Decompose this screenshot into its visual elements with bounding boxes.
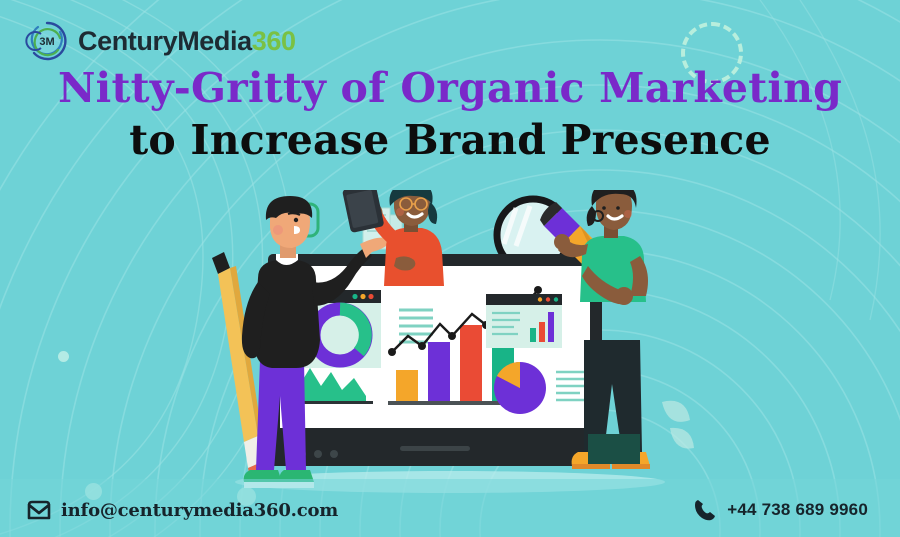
brand-logo[interactable]: 3M CenturyMedia360 [24, 18, 296, 64]
brand-name-part2: 360 [252, 26, 296, 56]
contact-email[interactable]: info@centurymedia360.com [26, 497, 338, 523]
leaf-decoration [662, 401, 694, 449]
brand-name: CenturyMedia360 [78, 28, 296, 55]
envelope-icon [26, 497, 52, 523]
bar-3 [460, 325, 482, 402]
contact-phone[interactable]: +44 738 689 9960 [692, 497, 868, 523]
phone-number: +44 738 689 9960 [727, 500, 868, 520]
logo-inner-label: 3M [39, 36, 54, 48]
decorative-dot [58, 351, 69, 362]
mini-bars-card [486, 294, 562, 348]
email-address: info@centurymedia360.com [61, 500, 338, 521]
brand-name-part1: CenturyMedia [78, 26, 252, 56]
team-data-analytics-illustration [200, 190, 720, 495]
century-media-circular-logo-icon: 3M [24, 18, 70, 64]
marketing-banner: 3M CenturyMedia360 Nitty-Gritty of Organ… [0, 0, 900, 537]
bar-1 [396, 370, 418, 402]
headline-line-1: Nitty-Gritty of Organic Marketing [0, 66, 900, 110]
bar-2 [428, 342, 450, 402]
headline-line-2: to Increase Brand Presence [0, 118, 900, 162]
headline-block: Nitty-Gritty of Organic Marketing to Inc… [0, 66, 900, 163]
pie-chart [494, 362, 546, 414]
phone-icon [692, 497, 718, 523]
laptop-base [262, 442, 608, 466]
